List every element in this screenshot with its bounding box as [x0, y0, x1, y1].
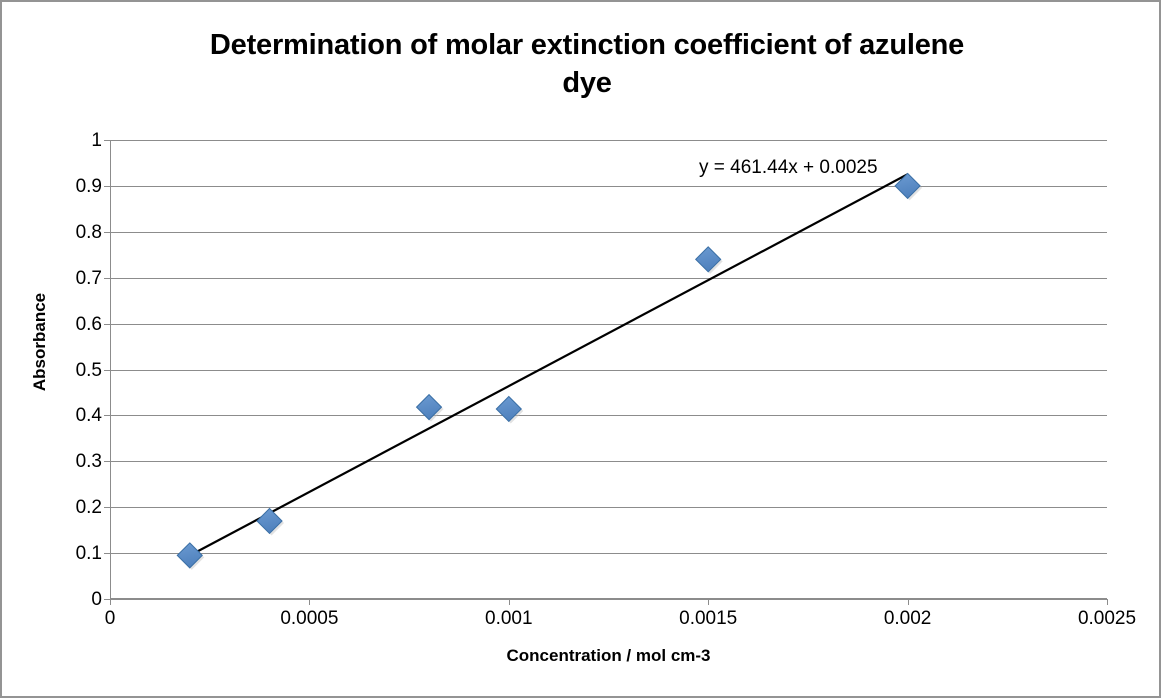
- x-axis-tick: [908, 599, 909, 605]
- chart-title: Determination of molar extinction coeffi…: [122, 26, 1052, 103]
- x-axis-tick: [509, 599, 510, 605]
- data-point-marker[interactable]: [496, 396, 521, 421]
- x-axis-tick-label: 0.002: [884, 609, 932, 628]
- gridline: [110, 599, 1107, 600]
- y-axis-tick-label: 0.2: [76, 498, 102, 517]
- chart-title-line-1: Determination of molar extinction coeffi…: [210, 29, 964, 61]
- y-axis-tick-label: 0.7: [76, 269, 102, 288]
- y-axis-tick-label: 0.3: [76, 452, 102, 471]
- y-axis-tick-labels: 00.10.20.30.40.50.60.70.80.91: [42, 140, 102, 600]
- y-axis-tick-label: 0.9: [76, 177, 102, 196]
- trendline: [190, 174, 908, 555]
- plot-area: [110, 140, 1107, 599]
- chart-screenshot: Determination of molar extinction coeffi…: [0, 0, 1161, 698]
- x-axis-tick-label: 0: [105, 609, 116, 628]
- x-axis-title: Concentration / mol cm-3: [110, 646, 1107, 666]
- y-axis-tick-label: 0.8: [76, 223, 102, 242]
- data-point-marker[interactable]: [417, 395, 442, 420]
- y-axis-tick-label: 0.4: [76, 406, 102, 425]
- x-axis-tick: [309, 599, 310, 605]
- data-point-marker[interactable]: [177, 543, 202, 568]
- x-axis-tick-label: 0.0005: [280, 609, 338, 628]
- x-axis-tick: [110, 599, 111, 605]
- x-axis-tick-label: 0.0015: [679, 609, 737, 628]
- data-point-marker[interactable]: [696, 247, 721, 272]
- x-axis-tick: [1107, 599, 1108, 605]
- y-axis-tick-label: 0.6: [76, 315, 102, 334]
- x-axis-tick: [708, 599, 709, 605]
- y-axis-tick-label: 0: [91, 590, 102, 609]
- x-axis-tick-label: 0.001: [485, 609, 533, 628]
- data-layer: [110, 140, 1107, 599]
- x-axis-tick-label: 0.0025: [1078, 609, 1136, 628]
- data-point-marker[interactable]: [257, 508, 282, 533]
- y-axis-tick-label: 1: [91, 131, 102, 150]
- y-axis-tick-label: 0.1: [76, 544, 102, 563]
- x-axis-tick-labels: 00.00050.0010.00150.0020.0025: [110, 609, 1107, 637]
- trendline-equation-label: y = 461.44x + 0.0025: [699, 157, 878, 179]
- chart-title-line-2: dye: [562, 67, 611, 99]
- y-axis-tick-label: 0.5: [76, 361, 102, 380]
- data-point-marker[interactable]: [895, 173, 920, 198]
